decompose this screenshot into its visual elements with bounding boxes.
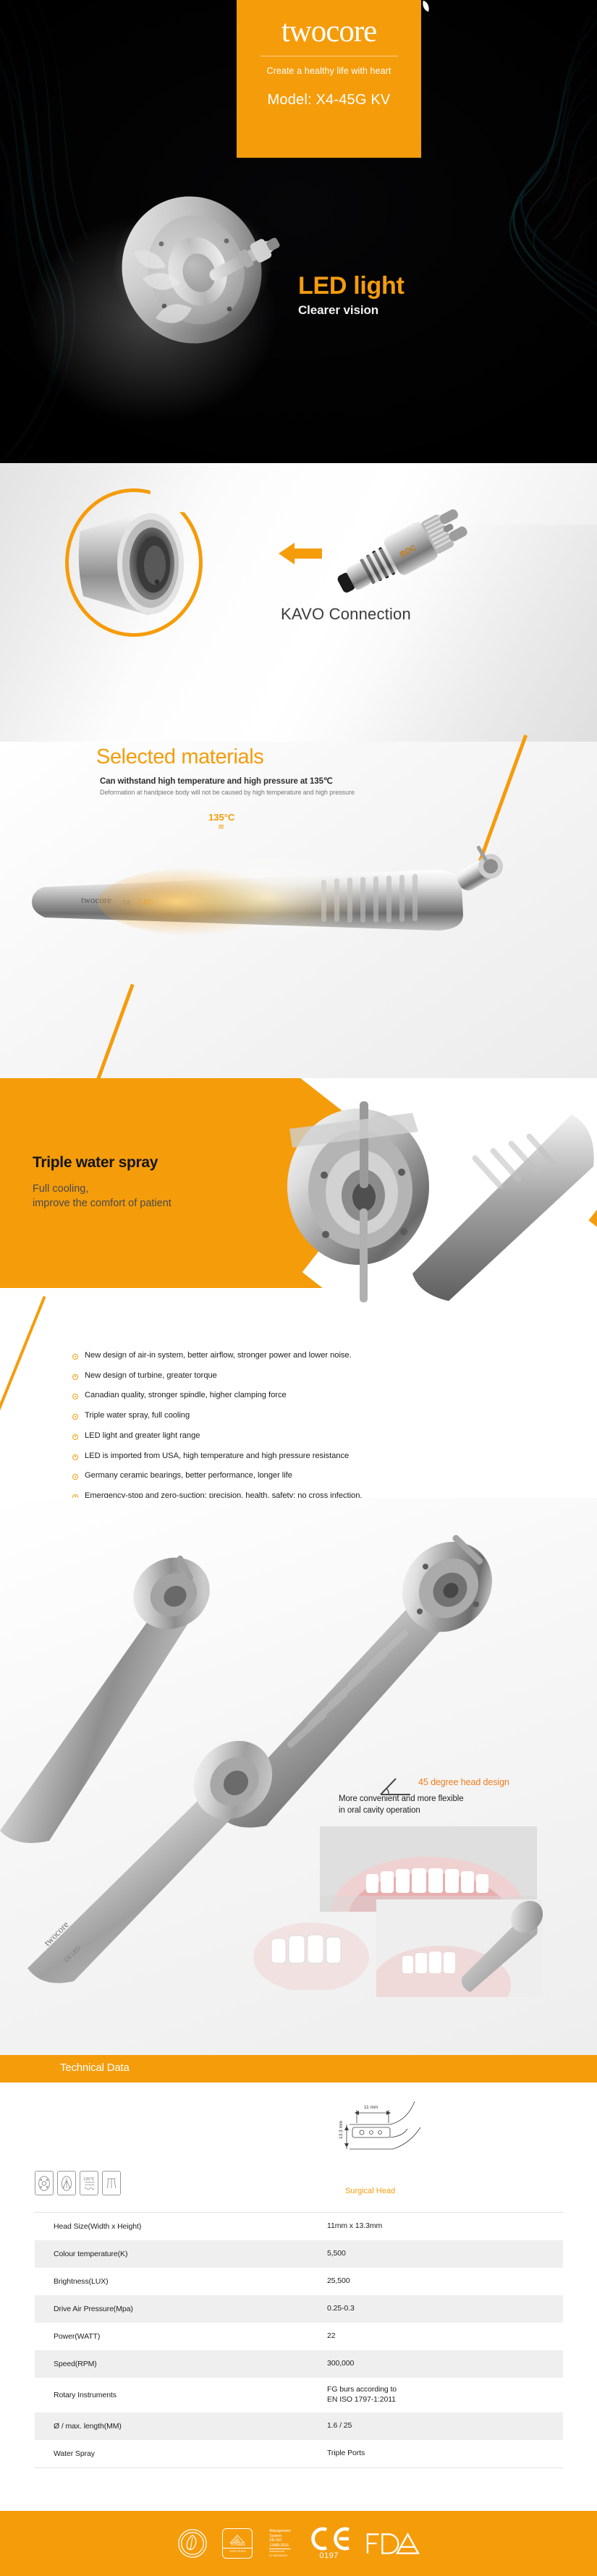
feature-text: Triple water spray, full cooling <box>85 1412 190 1420</box>
handpiece-in-mouth-illustration <box>376 1899 543 1997</box>
technical-data-table: Head Size(Width x Height) 11mm x 13.3mm … <box>35 2212 563 2468</box>
dim-height-label: 13.3 mm <box>339 2121 344 2139</box>
spray-pattern-icon <box>57 2171 76 2195</box>
head-design-title: 45 degree head design <box>418 1777 509 1787</box>
product-detail-page: twocore Create a healthy life with heart… <box>0 0 597 2576</box>
row-label: Speed(RPM) <box>35 2360 327 2368</box>
feature-text: Germany ceramic bearings, better perform… <box>85 1472 292 1480</box>
certification-footer: TUV Rheinland CERTIFIED Management Syste… <box>0 2511 597 2576</box>
list-item: Triple water spray, full cooling <box>72 1412 362 1420</box>
hero-subtitle: Clearer vision <box>298 303 405 318</box>
turbine-rotor-image <box>105 185 293 351</box>
feature-text: Canadian quality, stronger spindle, high… <box>85 1391 287 1399</box>
feature-text: LED is imported from USA, high temperatu… <box>85 1452 349 1460</box>
list-item: LED is imported from USA, high temperatu… <box>72 1452 362 1460</box>
bullet-icon <box>72 1454 78 1460</box>
list-item: New design of air-in system, better airf… <box>72 1352 362 1360</box>
feature-text: New design of turbine, greater torque <box>85 1372 217 1380</box>
autoclave-135-icon: 135℃ <box>80 2171 98 2195</box>
table-row: Power(WATT) 22 <box>35 2323 563 2350</box>
feature-text: New design of air-in system, better airf… <box>85 1352 352 1360</box>
brand-tagline: Create a healthy life with heart <box>266 66 391 76</box>
row-label: Ø / max. length(MM) <box>35 2422 327 2431</box>
feature-text: LED light and greater light range <box>85 1432 200 1440</box>
list-item: LED light and greater light range <box>72 1432 362 1440</box>
autoclave-temp-badge: 135°C ≋ <box>208 812 234 831</box>
technical-data-band: Technical Data <box>0 2055 597 2083</box>
list-item: Germany ceramic bearings, better perform… <box>72 1472 362 1480</box>
mgmt-line-6: ID 9000002012 <box>269 2554 290 2558</box>
row-label: Drive Air Pressure(Mpa) <box>35 2305 327 2313</box>
ce-glyph <box>308 2527 350 2551</box>
spray-title: Triple water spray <box>33 1154 158 1172</box>
triple-port-icon <box>102 2171 121 2195</box>
handpiece-coupler-image <box>76 507 203 622</box>
bullet-icon <box>72 1394 78 1399</box>
spray-subtitle-line-2: improve the comfort of patient <box>33 1197 172 1211</box>
row-value: 22 <box>327 2331 335 2342</box>
tooth-detail-illustration <box>250 1907 373 1990</box>
row-label: Rotary Instruments <box>35 2391 327 2399</box>
hero-section: twocore Create a healthy life with heart… <box>0 0 597 463</box>
head-design-subtitle: More convenient and more flexible in ora… <box>339 1794 464 1817</box>
bullet-icon <box>72 1474 78 1480</box>
materials-line-2: Deformation at handpiece body will not b… <box>100 789 355 796</box>
list-item: Canadian quality, stronger spindle, high… <box>72 1391 362 1399</box>
row-value: 5,500 <box>327 2249 346 2259</box>
hero-text-block: LED light Clearer vision <box>298 274 405 318</box>
list-item: New design of turbine, greater torque <box>72 1372 362 1380</box>
logo-divider <box>261 56 398 56</box>
arrow-left-icon <box>279 541 322 567</box>
row-label: Water Spray <box>35 2449 327 2458</box>
row-value: 0.25-0.3 <box>327 2304 355 2314</box>
bullet-icon <box>72 1354 78 1360</box>
mgmt-line-4: 13485:2016 <box>269 2543 290 2550</box>
steam-waves-icon: ≋ <box>208 824 234 831</box>
bullet-icon <box>72 1414 78 1420</box>
fda-glyph <box>365 2531 420 2556</box>
mgmt-line-3: EN ISO <box>269 2538 281 2543</box>
table-row: Drive Air Pressure(Mpa) 0.25-0.3 <box>35 2295 563 2323</box>
row-label: Colour temperature(K) <box>35 2250 327 2258</box>
bur-head-icon <box>35 2171 54 2195</box>
kavo-connector-image: BDC <box>329 507 478 604</box>
table-row: Rotary Instruments FG burs according to … <box>35 2378 563 2412</box>
ce-notified-body-number: 0197 <box>308 2551 350 2560</box>
brand-logo-box: twocore Create a healthy life with heart… <box>237 0 421 158</box>
brand-logo-text: twocore <box>281 16 377 47</box>
table-row: Brightness(LUX) 25,500 <box>35 2268 563 2295</box>
spec-icon-row: 135℃ <box>35 2171 121 2195</box>
handpiece-body-image: twocore C€ LED <box>29 845 528 961</box>
row-value: 25,500 <box>327 2276 350 2287</box>
table-row: Colour temperature(K) 5,500 <box>35 2240 563 2268</box>
row-value: 1.6 / 25 <box>327 2421 352 2431</box>
row-value: 11mm x 13.3mm <box>327 2221 382 2232</box>
temp-value: 135°C <box>208 812 234 823</box>
mgmt-line-5: www.tuv.com <box>269 2550 290 2554</box>
tuv-rheinland-certified-icon: TUV Rheinland CERTIFIED <box>222 2528 253 2559</box>
head-design-sub-line-1: More convenient and more flexible <box>339 1794 464 1805</box>
tuv-brand-text: TUV Rheinland <box>230 2544 245 2547</box>
row-value: Triple Ports <box>327 2449 365 2459</box>
svg-text:135℃: 135℃ <box>83 2177 94 2182</box>
bullet-icon <box>72 1434 78 1440</box>
product-model-label: Model: X4-45G KV <box>268 92 391 109</box>
fda-mark-icon <box>365 2528 420 2559</box>
management-system-icon: Management System EN ISO 13485:2016 www.… <box>269 2529 290 2557</box>
table-row: Water Spray Triple Ports <box>35 2440 563 2467</box>
row-label: Power(WATT) <box>35 2332 327 2341</box>
spray-subtitle: Full cooling, improve the comfort of pat… <box>33 1182 172 1211</box>
row-label: Head Size(Width x Height) <box>35 2222 327 2231</box>
row-label: Brightness(LUX) <box>35 2277 327 2286</box>
tuv-triangle-icon <box>228 2534 247 2544</box>
kavo-connection-label: KAVO Connection <box>281 605 411 624</box>
table-row: Head Size(Width x Height) 11mm x 13.3mm <box>35 2213 563 2240</box>
head-dimension-drawing: 11 mm 13.3 mm <box>329 2098 427 2156</box>
tuv-status-text: CERTIFIED <box>223 2548 252 2553</box>
materials-title: Selected materials <box>96 745 263 769</box>
table-row: Ø / max. length(MM) 1.6 / 25 <box>35 2412 563 2440</box>
bullet-icon <box>72 1374 78 1380</box>
surgical-head-column-label: Surgical Head <box>345 2187 395 2195</box>
dim-width-label: 11 mm <box>364 2105 378 2110</box>
ce-mark-icon: 0197 <box>308 2527 350 2560</box>
eco-leaf-seal-icon <box>177 2528 208 2559</box>
mgmt-line-2: System <box>269 2534 281 2538</box>
table-bottom-rule <box>35 2467 563 2468</box>
row-value: 300,000 <box>327 2359 354 2369</box>
head-design-sub-line-2: in oral cavity operation <box>339 1805 464 1817</box>
handpiece-head-closeup-image <box>268 1100 597 1302</box>
mgmt-line-1: Management <box>269 2529 290 2533</box>
spray-subtitle-line-1: Full cooling, <box>33 1182 172 1197</box>
table-row: Speed(RPM) 300,000 <box>35 2350 563 2378</box>
technical-data-title: Technical Data <box>60 2062 130 2074</box>
row-value: FG burs according to EN ISO 1797-1:2011 <box>327 2385 397 2405</box>
materials-line-1: Can withstand high temperature and high … <box>100 776 333 786</box>
hero-title: LED light <box>298 274 405 300</box>
